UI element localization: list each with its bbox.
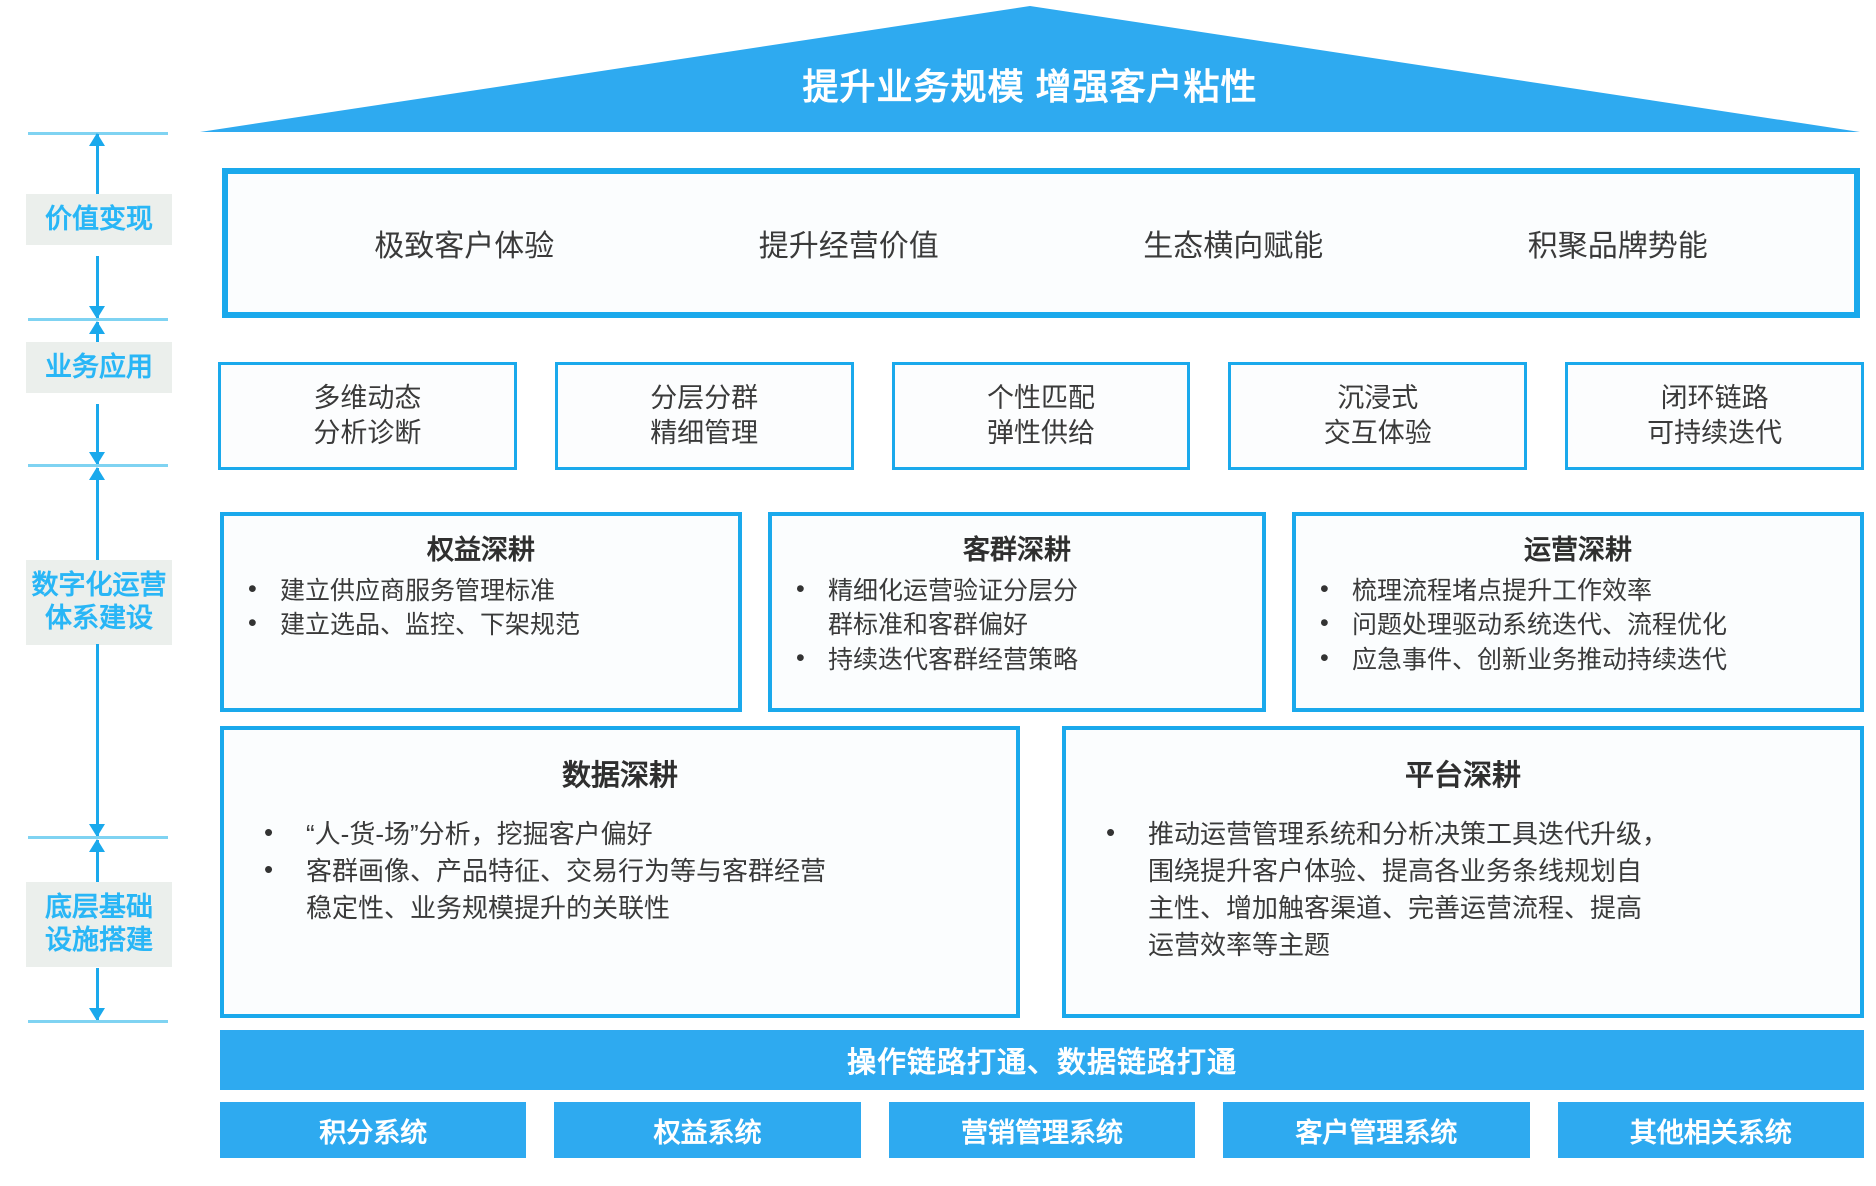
list-item: 精细化运营验证分层分 <box>782 575 1252 608</box>
app-box-4: 闭环链路 可持续迭代 <box>1565 362 1864 470</box>
system-box-other: 其他相关系统 <box>1558 1102 1864 1158</box>
deep-box-title: 客群深耕 <box>782 528 1252 567</box>
list-item: 建立选品、监控、下架规范 <box>234 609 728 642</box>
app-box-3: 沉浸式 交互体验 <box>1228 362 1527 470</box>
app-box-line2: 精细管理 <box>650 416 758 451</box>
value-item-1: 提升经营价值 <box>759 221 939 265</box>
app-box-line2: 弹性供给 <box>987 416 1095 451</box>
system-box-customer: 客户管理系统 <box>1223 1102 1529 1158</box>
app-box-line2: 交互体验 <box>1324 416 1432 451</box>
business-application-row: 多维动态 分析诊断 分层分群 精细管理 个性匹配 弹性供给 沉浸式 交互体验 闭… <box>218 362 1864 470</box>
rail-label-line: 业务应用 <box>26 351 172 384</box>
rail-label-line-2: 设施搭建 <box>26 924 172 957</box>
app-box-line2: 分析诊断 <box>313 416 421 451</box>
deep-box-rights: 权益深耕 建立供应商服务管理标准 建立选品、监控、下架规范 <box>220 512 742 712</box>
list-item: “人-货-场”分析，挖掘客户偏好 <box>238 816 1002 853</box>
list-item: 梳理流程堵点提升工作效率 <box>1306 575 1850 608</box>
data-platform-row: 数据深耕 “人-货-场”分析，挖掘客户偏好 客群画像、产品特征、交易行为等与客群… <box>220 726 1864 1018</box>
big-box-platform: 平台深耕 推动运营管理系统和分析决策工具迭代升级， 围绕提升客户体验、提高各业务… <box>1062 726 1864 1018</box>
rail-label-line-1: 底层基础 <box>26 891 172 924</box>
rail-label-business-application: 业务应用 <box>26 342 172 393</box>
app-box-line1: 沉浸式 <box>1337 381 1418 416</box>
roof-title: 提升业务规模 增强客户粘性 <box>200 58 1860 110</box>
system-box-marketing: 营销管理系统 <box>889 1102 1195 1158</box>
deep-box-list: 建立供应商服务管理标准 建立选品、监控、下架规范 <box>234 575 728 643</box>
list-item: 应急事件、创新业务推动持续迭代 <box>1306 644 1850 677</box>
deep-box-title: 运营深耕 <box>1306 528 1850 567</box>
deep-box-list: 梳理流程堵点提升工作效率 问题处理驱动系统迭代、流程优化 应急事件、创新业务推动… <box>1306 575 1850 677</box>
deep-box-list: 精细化运营验证分层分 群标准和客群偏好 持续迭代客群经营策略 <box>782 575 1252 677</box>
value-item-0: 极致客户体验 <box>374 221 554 265</box>
rail-arrow-down-2 <box>96 404 99 464</box>
list-item-continuation: 稳定性、业务规模提升的关联性 <box>238 890 1002 927</box>
list-item: 客群画像、产品特征、交易行为等与客群经营 <box>238 853 1002 890</box>
big-box-data: 数据深耕 “人-货-场”分析，挖掘客户偏好 客群画像、产品特征、交易行为等与客群… <box>220 726 1020 1018</box>
app-box-2: 个性匹配 弹性供给 <box>892 362 1191 470</box>
system-box-rights: 权益系统 <box>554 1102 860 1158</box>
app-box-line1: 分层分群 <box>650 381 758 416</box>
left-rail: 价值变现 业务应用 数字化运营 体系建设 <box>18 132 178 1164</box>
deep-box-customer-group: 客群深耕 精细化运营验证分层分 群标准和客群偏好 持续迭代客群经营策略 <box>768 512 1266 712</box>
rail-label-line-1: 数字化运营 <box>26 569 172 602</box>
deep-cultivation-row: 权益深耕 建立供应商服务管理标准 建立选品、监控、下架规范 客群深耕 精细化运营… <box>220 512 1864 712</box>
rail-arrow-down-4 <box>96 968 99 1020</box>
list-item-continuation: 围绕提升客户体验、提高各业务条线规划自 <box>1080 853 1846 890</box>
app-box-line1: 个性匹配 <box>987 381 1095 416</box>
diagram-canvas: 提升业务规模 增强客户粘性 价值变现 业务应用 数字化运营 <box>0 0 1876 1186</box>
list-item: 推动运营管理系统和分析决策工具迭代升级， <box>1080 816 1846 853</box>
list-item-continuation: 运营效率等主题 <box>1080 927 1846 964</box>
list-item-continuation: 群标准和客群偏好 <box>782 609 1252 642</box>
rail-arrow-up-3 <box>96 468 99 560</box>
roof-shape: 提升业务规模 增强客户粘性 <box>200 6 1860 132</box>
big-box-list: “人-货-场”分析，挖掘客户偏好 客群画像、产品特征、交易行为等与客群经营 稳定… <box>238 816 1002 927</box>
deep-box-operation: 运营深耕 梳理流程堵点提升工作效率 问题处理驱动系统迭代、流程优化 应急事件、创… <box>1292 512 1864 712</box>
rail-label-line: 价值变现 <box>26 203 172 236</box>
rail-divider-bottom-4 <box>28 1020 168 1023</box>
app-box-1: 分层分群 精细管理 <box>555 362 854 470</box>
value-realization-band: 极致客户体验 提升经营价值 生态横向赋能 积聚品牌势能 <box>222 168 1860 318</box>
deep-box-title: 权益深耕 <box>234 528 728 567</box>
app-box-line1: 多维动态 <box>313 381 421 416</box>
list-item: 建立供应商服务管理标准 <box>234 575 728 608</box>
link-band: 操作链路打通、数据链路打通 <box>220 1030 1864 1090</box>
rail-label-line-2: 体系建设 <box>26 602 172 635</box>
rail-arrow-up-1 <box>96 134 99 194</box>
list-item-continuation: 主性、增加触客渠道、完善运营流程、提高 <box>1080 890 1846 927</box>
app-box-0: 多维动态 分析诊断 <box>218 362 517 470</box>
system-box-points: 积分系统 <box>220 1102 526 1158</box>
app-box-line1: 闭环链路 <box>1661 381 1769 416</box>
app-box-line2: 可持续迭代 <box>1647 416 1782 451</box>
list-item: 问题处理驱动系统迭代、流程优化 <box>1306 609 1850 642</box>
rail-label-infrastructure: 底层基础 设施搭建 <box>26 882 172 967</box>
big-box-title: 平台深耕 <box>1080 752 1846 794</box>
big-box-title: 数据深耕 <box>238 752 1002 794</box>
rail-label-digital-operation: 数字化运营 体系建设 <box>26 560 172 645</box>
rail-label-value-realization: 价值变现 <box>26 194 172 245</box>
systems-row: 积分系统 权益系统 营销管理系统 客户管理系统 其他相关系统 <box>220 1102 1864 1158</box>
big-box-list: 推动运营管理系统和分析决策工具迭代升级， 围绕提升客户体验、提高各业务条线规划自… <box>1080 816 1846 964</box>
value-item-3: 积聚品牌势能 <box>1528 221 1708 265</box>
value-item-2: 生态横向赋能 <box>1143 221 1323 265</box>
rail-arrow-down-3 <box>96 644 99 836</box>
rail-arrow-down-1 <box>96 256 99 318</box>
list-item: 持续迭代客群经营策略 <box>782 644 1252 677</box>
